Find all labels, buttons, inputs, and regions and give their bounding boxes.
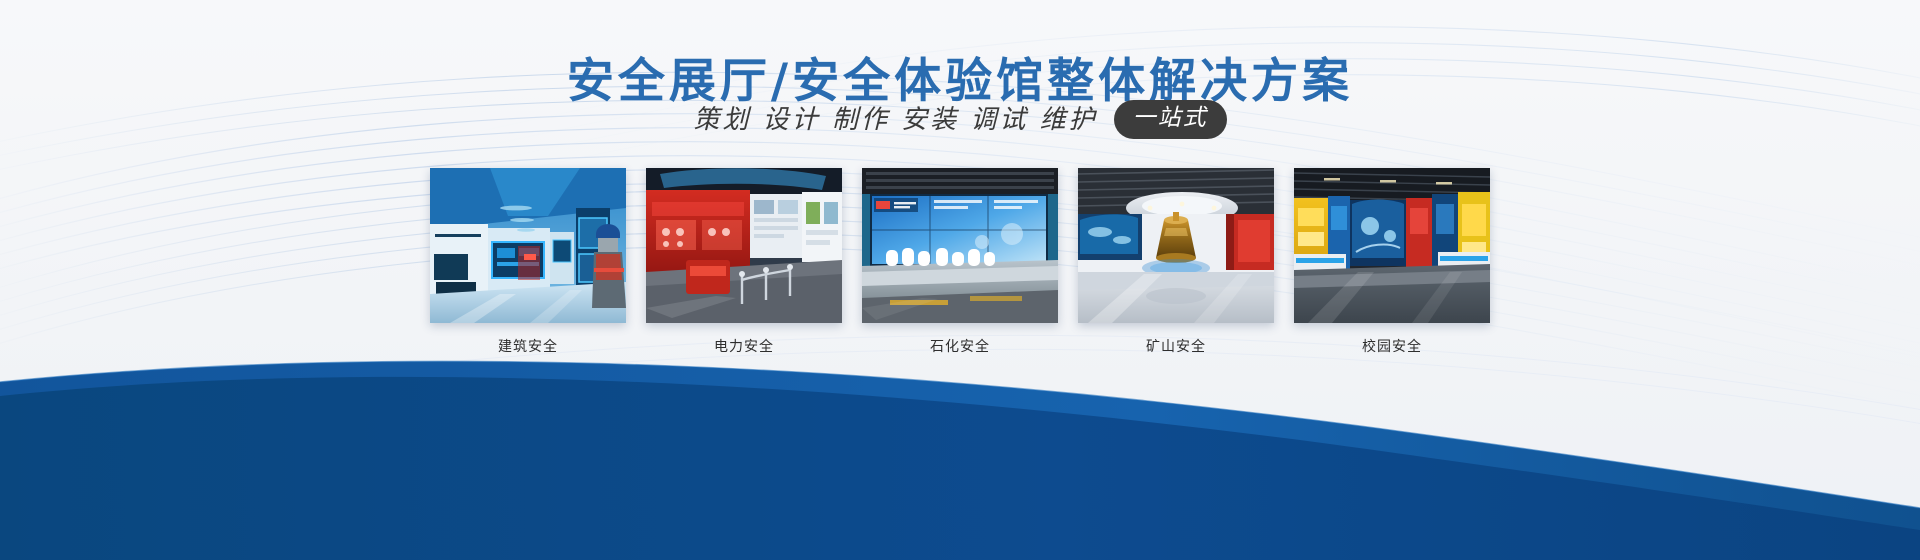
campus-safety-thumbnail[interactable] <box>1294 168 1490 323</box>
one-stop-badge: 一站式 <box>1114 100 1227 139</box>
electric-power-safety-thumbnail[interactable] <box>646 168 842 323</box>
subtitle-row: 策划 设计 制作 安装 调试 维护 一站式 <box>0 100 1920 139</box>
construction-safety-thumbnail[interactable] <box>430 168 626 323</box>
gallery-item[interactable]: 校园安全 <box>1294 168 1490 356</box>
mining-safety-thumbnail[interactable] <box>1078 168 1274 323</box>
mining-safety-image <box>1078 168 1274 323</box>
gallery-item[interactable]: 矿山安全 <box>1078 168 1274 356</box>
gallery-item[interactable]: 电力安全 <box>646 168 842 356</box>
electric-power-safety-image <box>646 168 842 323</box>
subtitle-text: 策划 设计 制作 安装 调试 维护 <box>693 107 1097 133</box>
promo-banner: 安全展厅/安全体验馆整体解决方案 策划 设计 制作 安装 调试 维护 一站式 <box>0 0 1920 560</box>
bottom-wave-decoration <box>0 330 1920 560</box>
gallery: 建筑安全 <box>0 168 1920 356</box>
petrochemical-safety-image <box>862 168 1058 323</box>
campus-safety-image <box>1294 168 1490 323</box>
construction-safety-image <box>430 168 626 323</box>
petrochemical-safety-thumbnail[interactable] <box>862 168 1058 323</box>
gallery-item[interactable]: 石化安全 <box>862 168 1058 356</box>
gallery-item[interactable]: 建筑安全 <box>430 168 626 356</box>
